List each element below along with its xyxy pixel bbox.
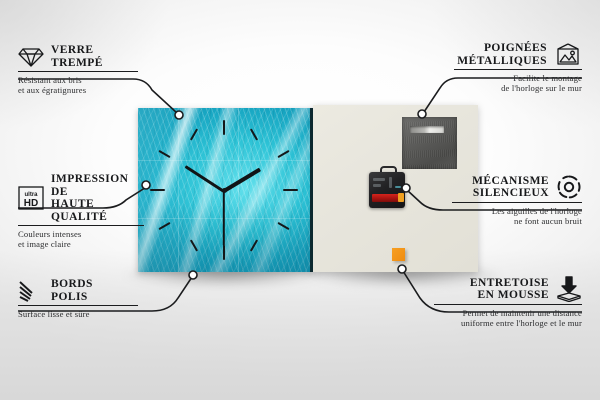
callout-rule — [452, 202, 582, 203]
movement-detail — [395, 186, 401, 188]
callout-title: IMPRESSION DE — [51, 173, 146, 198]
movement-detail — [389, 177, 392, 188]
callout-title: POLIS — [51, 291, 93, 304]
second-hand — [223, 191, 225, 246]
svg-text:HD: HD — [24, 198, 38, 209]
callout-title: MÉCANISME — [472, 175, 549, 188]
battery — [372, 194, 400, 202]
callout-title: TREMPÉ — [51, 57, 103, 70]
hour-marker — [223, 120, 225, 135]
ultra-hd-icon: ultra HD — [18, 186, 44, 210]
polished-edge-icon — [18, 280, 44, 302]
callout-subtitle: uniforme entre l'horloge et le mur — [434, 318, 582, 328]
diamond-icon — [18, 46, 44, 68]
callout-subtitle: Permet de maintenir une distance — [434, 308, 582, 318]
callout-subtitle: de l'horloge sur le mur — [454, 83, 582, 93]
callout-rule — [18, 305, 138, 306]
callout-rule — [434, 304, 582, 305]
callout-title: POIGNÉES — [457, 42, 547, 55]
callout-subtitle: et image claire — [18, 239, 146, 249]
callout-title: ENTRETOISE — [470, 277, 549, 290]
callout-subtitle: Surface lisse et sûre — [18, 309, 140, 319]
callout-subtitle: et aux égratignures — [18, 85, 140, 95]
battery-positive-terminal — [398, 193, 404, 202]
hour-marker — [283, 189, 298, 191]
foam-spacer — [392, 248, 405, 261]
callout-title: HAUTE QUALITÉ — [51, 198, 146, 223]
callout-title: EN MOUSSE — [470, 289, 549, 302]
hour-marker — [150, 189, 165, 191]
gear-icon — [556, 174, 582, 200]
callout-bords-polis: BORDS POLIS Surface lisse et sûre — [18, 278, 140, 319]
bracket-slot — [410, 126, 444, 133]
callout-subtitle: Les aiguilles de l'horloge — [452, 206, 582, 216]
infographic-canvas: VERRE TREMPÉ Résistant aux bris et aux é… — [0, 0, 600, 400]
callout-poignees-metalliques: POIGNÉES MÉTALLIQUES Facilite le montage… — [454, 42, 582, 93]
callout-title: MÉTALLIQUES — [457, 55, 547, 68]
callout-title: VERRE — [51, 44, 103, 57]
picture-frame-hanger-icon — [554, 43, 582, 67]
foam-spacer-arrow-icon — [556, 276, 582, 302]
metal-hanging-bracket — [402, 117, 457, 169]
callout-rule — [18, 225, 144, 226]
movement-detail — [373, 184, 381, 187]
callout-title: SILENCIEUX — [472, 187, 549, 200]
print-seam — [138, 160, 310, 161]
hour-marker — [223, 245, 225, 260]
callout-rule — [18, 71, 138, 72]
print-seam — [238, 108, 239, 272]
clock-hub — [222, 188, 227, 193]
quartz-movement — [369, 172, 405, 208]
movement-detail — [373, 178, 385, 181]
callout-mecanisme-silencieux: MÉCANISME SILENCIEUX Les aiguilles de l'… — [452, 174, 582, 226]
callout-subtitle: Facilite le montage — [454, 73, 582, 83]
callout-verre-trempe: VERRE TREMPÉ Résistant aux bris et aux é… — [18, 44, 140, 95]
callout-subtitle: ne font aucun bruit — [452, 216, 582, 226]
callout-rule — [454, 69, 582, 70]
print-seam — [178, 108, 179, 272]
callout-entretoise-en-mousse: ENTRETOISE EN MOUSSE Permet de maintenir… — [434, 276, 582, 328]
callout-subtitle: Couleurs intenses — [18, 229, 146, 239]
clock-front-panel — [138, 108, 313, 272]
callout-title: BORDS — [51, 278, 93, 291]
callout-impression-haute-qualite: ultra HD IMPRESSION DE HAUTE QUALITÉ Cou… — [18, 173, 146, 249]
callout-subtitle: Résistant aux bris — [18, 75, 140, 85]
